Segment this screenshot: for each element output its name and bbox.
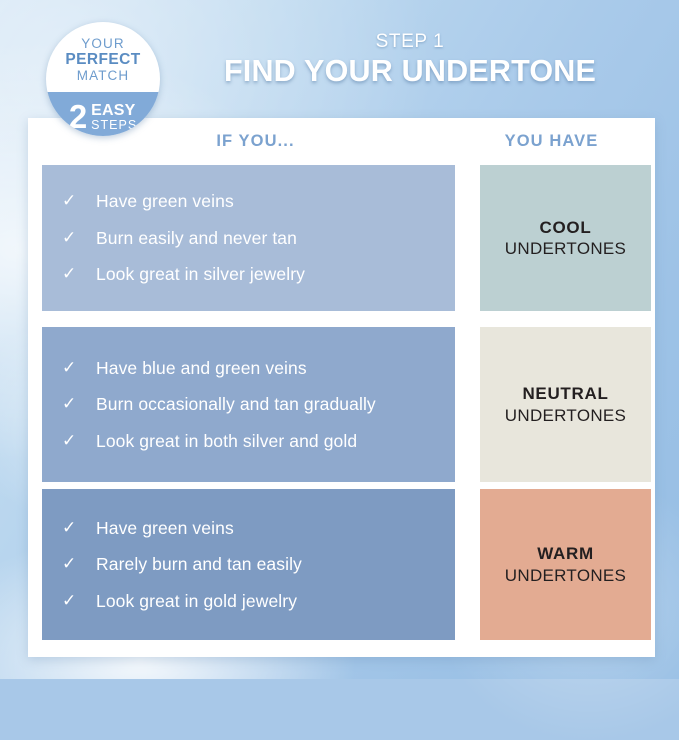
criteria-item: ✓Have green veins bbox=[62, 190, 439, 212]
criteria-label: Have green veins bbox=[96, 190, 234, 212]
table-row: ✓Have green veins✓Rarely burn and tan ea… bbox=[42, 489, 651, 640]
badge-step-count: 2 bbox=[69, 102, 87, 132]
criteria-item: ✓Look great in silver jewelry bbox=[62, 263, 439, 285]
criteria-item: ✓Rarely burn and tan easily bbox=[62, 553, 439, 575]
undertone-subtitle: UNDERTONES bbox=[505, 405, 626, 426]
criteria-label: Rarely burn and tan easily bbox=[96, 553, 302, 575]
badge-steps-line-2: STEPS bbox=[91, 119, 137, 132]
badge-steps-label: EASY STEPS bbox=[91, 103, 137, 132]
criteria-panel: ✓Have green veins✓Rarely burn and tan ea… bbox=[42, 489, 455, 640]
column-header-you-have: YOU HAVE bbox=[466, 132, 637, 151]
badge-line-3: MATCH bbox=[46, 68, 160, 83]
criteria-label: Look great in both silver and gold bbox=[96, 430, 357, 452]
criteria-label: Have blue and green veins bbox=[96, 357, 307, 379]
criteria-item: ✓Have green veins bbox=[62, 517, 439, 539]
page-title: FIND YOUR UNDERTONE bbox=[190, 54, 630, 89]
undertone-subtitle: UNDERTONES bbox=[505, 565, 626, 586]
badge-line-2: PERFECT bbox=[46, 51, 160, 68]
badge-line-1: YOUR bbox=[46, 36, 160, 51]
criteria-label: Look great in gold jewelry bbox=[96, 590, 297, 612]
undertone-swatch-inner: COOL UNDERTONES bbox=[480, 165, 651, 311]
checkmark-icon: ✓ bbox=[62, 430, 96, 452]
undertone-swatch: WARM UNDERTONES bbox=[480, 489, 651, 640]
criteria-panel: ✓Have green veins✓Burn easily and never … bbox=[42, 165, 455, 311]
checkmark-icon: ✓ bbox=[62, 190, 96, 212]
criteria-item: ✓Look great in gold jewelry bbox=[62, 590, 439, 612]
undertone-subtitle: UNDERTONES bbox=[505, 238, 626, 259]
undertone-swatch-inner: NEUTRAL UNDERTONES bbox=[480, 327, 651, 482]
checkmark-icon: ✓ bbox=[62, 553, 96, 575]
perfect-match-badge: YOUR PERFECT MATCH 2 EASY STEPS bbox=[46, 22, 160, 136]
undertone-swatch: COOL UNDERTONES bbox=[480, 165, 651, 311]
criteria-item: ✓Burn occasionally and tan gradually bbox=[62, 393, 439, 415]
criteria-label: Have green veins bbox=[96, 517, 234, 539]
checkmark-icon: ✓ bbox=[62, 263, 96, 285]
checkmark-icon: ✓ bbox=[62, 357, 96, 379]
checkmark-icon: ✓ bbox=[62, 227, 96, 249]
undertone-name: COOL bbox=[540, 217, 592, 238]
badge-upper-text: YOUR PERFECT MATCH bbox=[46, 36, 160, 84]
criteria-label: Burn easily and never tan bbox=[96, 227, 297, 249]
undertone-swatch-inner: WARM UNDERTONES bbox=[480, 489, 651, 640]
column-header-row: IF YOU... YOU HAVE bbox=[28, 132, 655, 162]
table-row: ✓Have green veins✓Burn easily and never … bbox=[42, 165, 651, 311]
step-label: STEP 1 bbox=[190, 31, 630, 53]
table-row: ✓Have blue and green veins✓Burn occasion… bbox=[42, 327, 651, 482]
badge-steps-group: 2 EASY STEPS bbox=[46, 102, 160, 132]
criteria-item: ✓Have blue and green veins bbox=[62, 357, 439, 379]
criteria-label: Burn occasionally and tan gradually bbox=[96, 393, 376, 415]
criteria-panel: ✓Have blue and green veins✓Burn occasion… bbox=[42, 327, 455, 482]
criteria-item: ✓Look great in both silver and gold bbox=[62, 430, 439, 452]
checkmark-icon: ✓ bbox=[62, 393, 96, 415]
undertone-table-card: IF YOU... YOU HAVE ✓Have green veins✓Bur… bbox=[28, 118, 655, 657]
criteria-item: ✓Burn easily and never tan bbox=[62, 227, 439, 249]
undertone-name: WARM bbox=[537, 543, 594, 564]
undertone-swatch: NEUTRAL UNDERTONES bbox=[480, 327, 651, 482]
checkmark-icon: ✓ bbox=[62, 517, 96, 539]
badge-steps-line-1: EASY bbox=[91, 103, 137, 119]
undertone-name: NEUTRAL bbox=[522, 383, 608, 404]
checkmark-icon: ✓ bbox=[62, 590, 96, 612]
criteria-label: Look great in silver jewelry bbox=[96, 263, 305, 285]
